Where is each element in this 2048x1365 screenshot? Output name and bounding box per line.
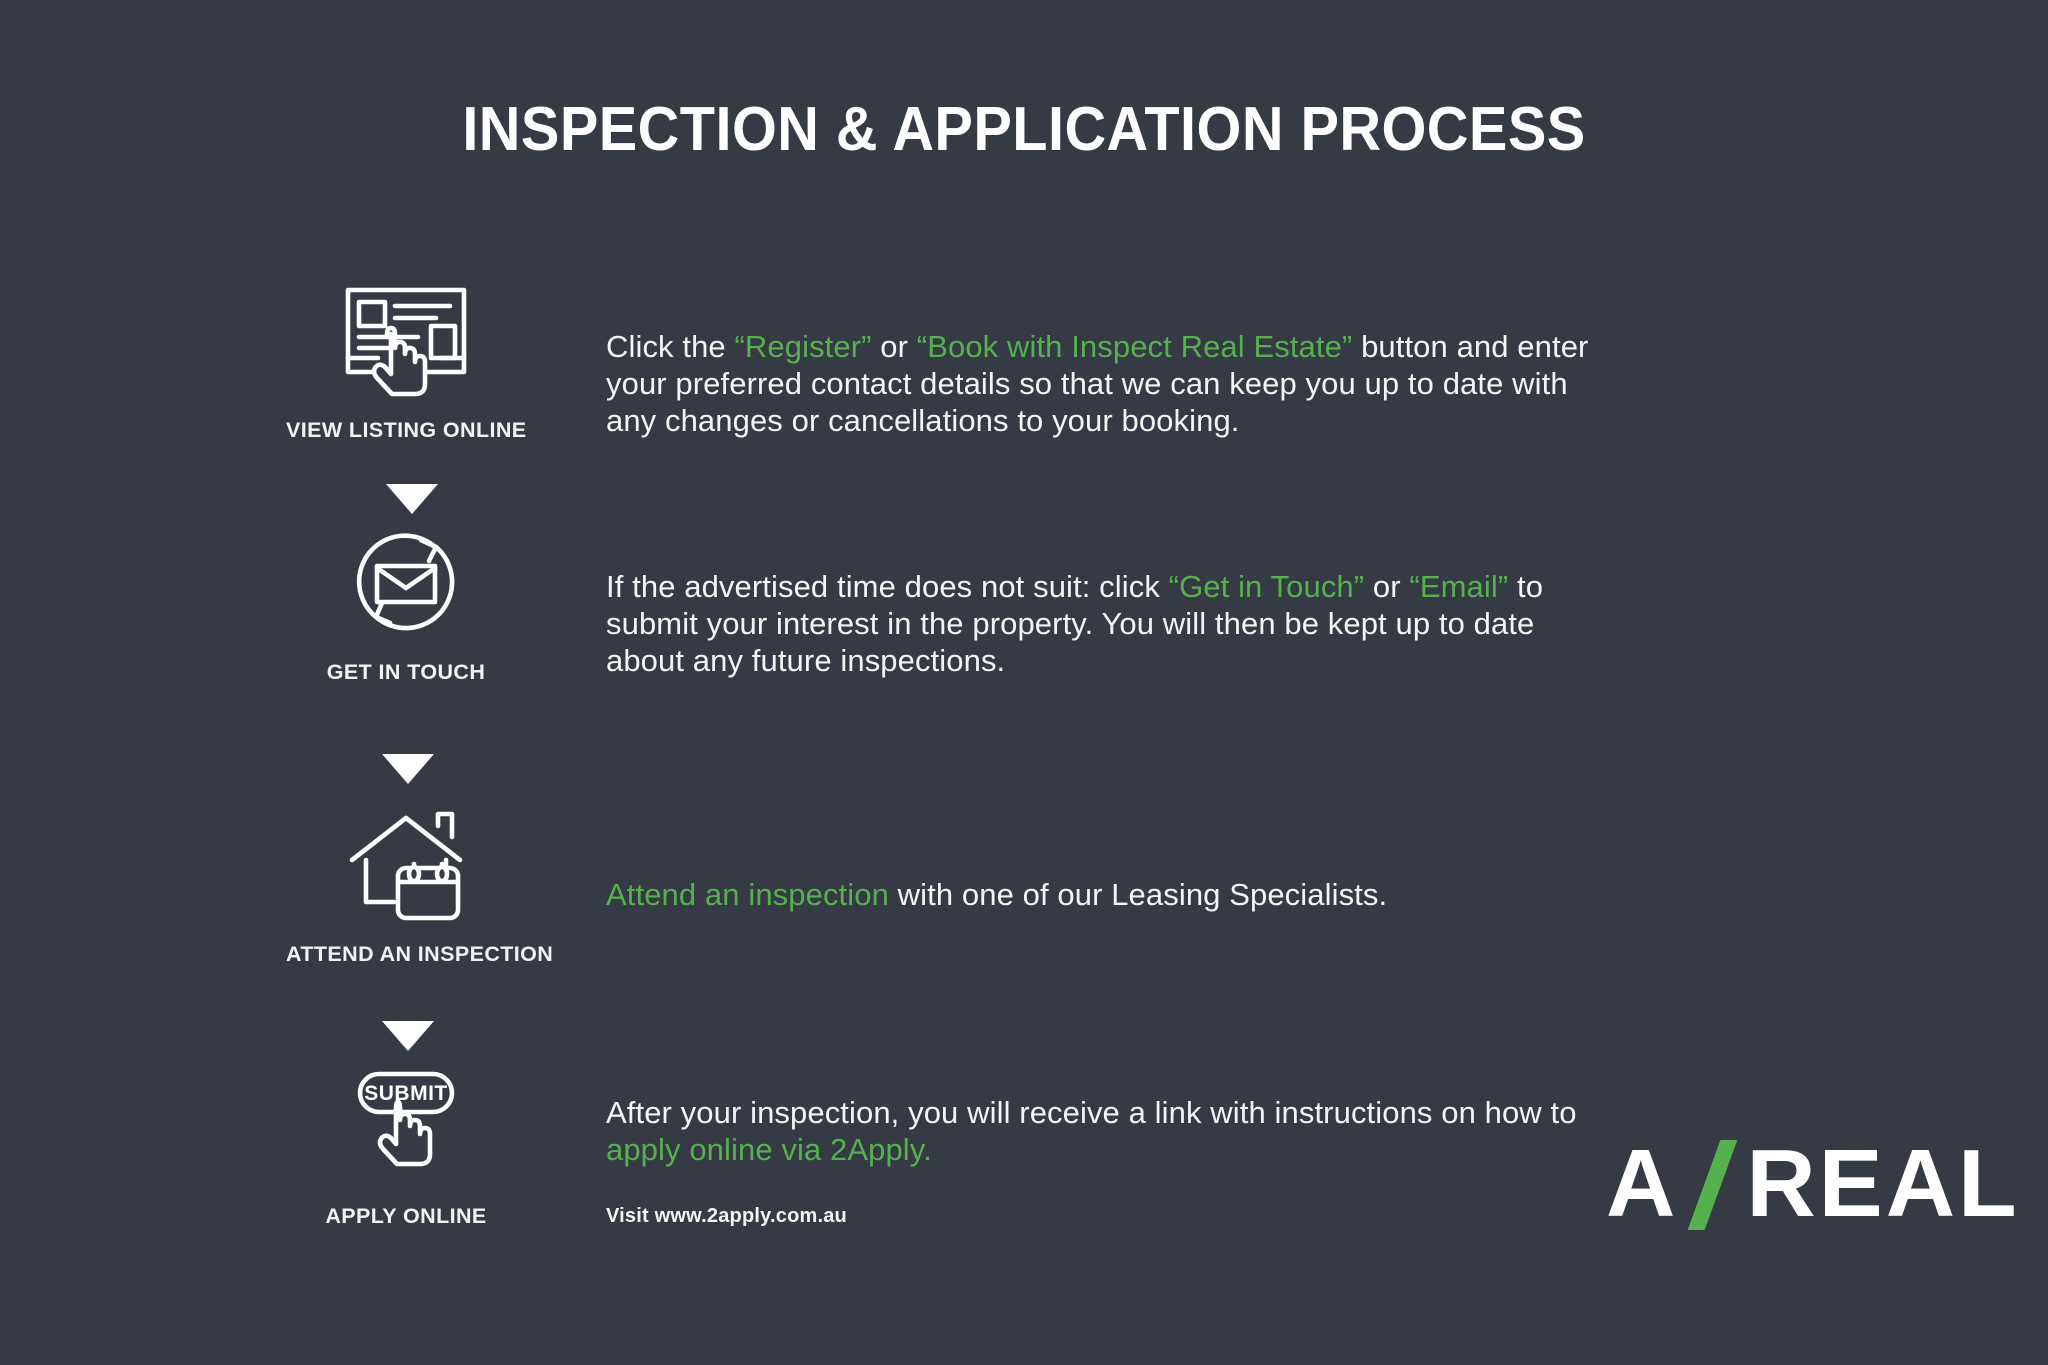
step-2-part-3: “Email” xyxy=(1409,569,1508,604)
down-arrow-3 xyxy=(382,1021,434,1051)
step-1-part-2: or xyxy=(872,329,917,364)
logo-word-real: REAL xyxy=(1746,1136,2019,1232)
step-4-part-0: After your inspection, you will receive … xyxy=(606,1095,1577,1130)
step-2-part-2: or xyxy=(1364,569,1409,604)
step-1-label: VIEW LISTING ONLINE xyxy=(286,418,526,443)
step-1-part-1: “Register” xyxy=(734,329,871,364)
envelope-refresh-icon xyxy=(286,524,526,640)
svg-text:SUBMIT: SUBMIT xyxy=(364,1082,448,1105)
areal-logo: A REAL xyxy=(1606,1136,2020,1232)
logo-slash-icon xyxy=(1684,1136,1744,1232)
step-3-part-1: with one of our Leasing Specialists. xyxy=(889,877,1387,912)
step-4-icon-column: SUBMIT APPLY ONLINE xyxy=(286,1068,526,1229)
step-4-label: APPLY ONLINE xyxy=(286,1204,526,1229)
step-2-text: If the advertised time does not suit: cl… xyxy=(606,568,1616,679)
visit-url-note: Visit www.2apply.com.au xyxy=(606,1198,1616,1235)
step-4-part-1: apply online via 2Apply. xyxy=(606,1132,932,1167)
step-3-icon-column: ATTEND AN INSPECTION xyxy=(286,806,526,967)
down-arrow-2 xyxy=(382,754,434,784)
step-3-part-0: Attend an inspection xyxy=(606,877,889,912)
page-title: INSPECTION & APPLICATION PROCESS xyxy=(72,94,1977,165)
infographic-canvas: INSPECTION & APPLICATION PROCESS VIEW LI xyxy=(0,0,2048,1365)
step-2-part-1: “Get in Touch” xyxy=(1169,569,1365,604)
listing-cursor-icon xyxy=(286,282,526,398)
step-1-part-3: “Book with Inspect Real Estate” xyxy=(917,329,1353,364)
step-1-text: Click the “Register” or “Book with Inspe… xyxy=(606,328,1616,439)
step-2-part-0: If the advertised time does not suit: cl… xyxy=(606,569,1169,604)
step-2-label: GET IN TOUCH xyxy=(286,660,526,685)
down-arrow-1 xyxy=(386,484,438,514)
house-calendar-icon xyxy=(286,806,526,922)
logo-letter-a: A xyxy=(1606,1136,1678,1232)
step-4-text: After your inspection, you will receive … xyxy=(606,1094,1616,1235)
step-3-label: ATTEND AN INSPECTION xyxy=(286,942,526,967)
step-3-text: Attend an inspection with one of our Lea… xyxy=(606,876,1616,913)
step-1-icon-column: VIEW LISTING ONLINE xyxy=(286,282,526,443)
step-1-part-0: Click the xyxy=(606,329,734,364)
submit-button-cursor-icon: SUBMIT xyxy=(286,1068,526,1184)
step-2-icon-column: GET IN TOUCH xyxy=(286,524,526,685)
